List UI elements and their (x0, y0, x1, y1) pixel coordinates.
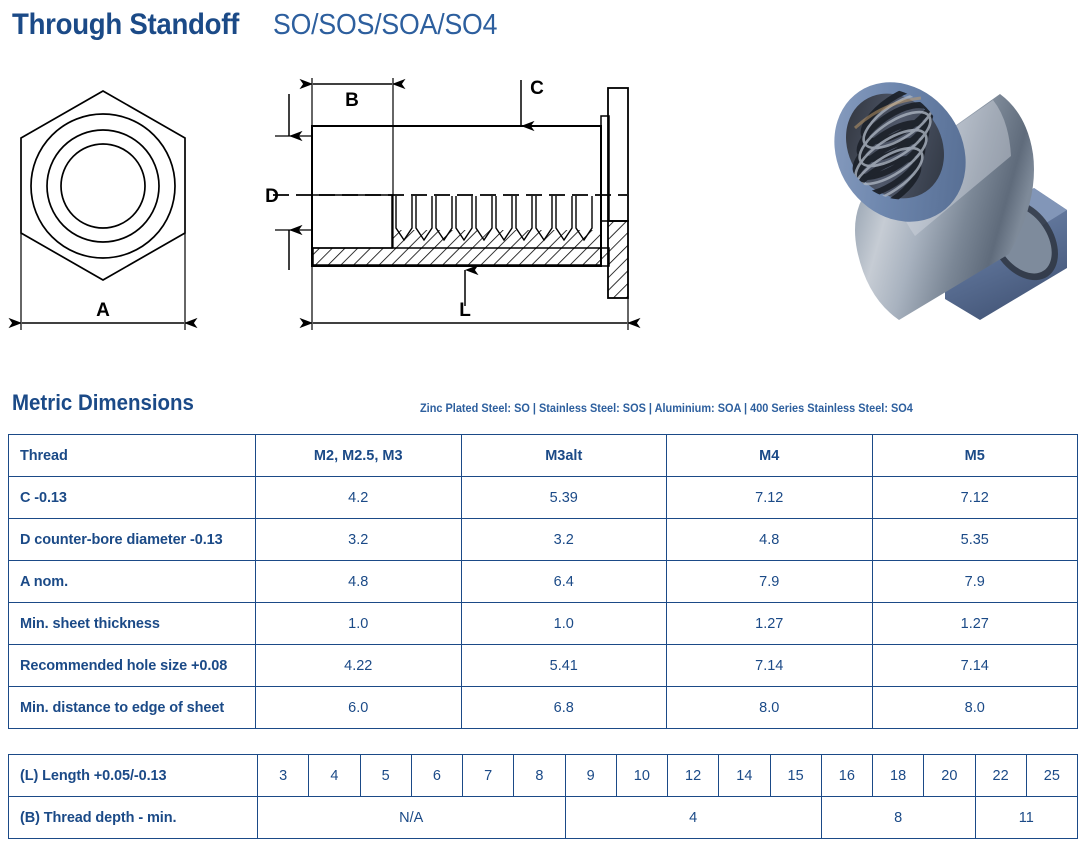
cell-value: 7.14 (667, 645, 873, 687)
table-row: Min. sheet thickness 1.0 1.0 1.27 1.27 (9, 603, 1078, 645)
cell-value: 3.2 (461, 519, 667, 561)
length-cell: 5 (360, 755, 411, 797)
length-cell: 22 (975, 755, 1026, 797)
length-cell: 7 (463, 755, 514, 797)
length-cell: 6 (411, 755, 462, 797)
cell-value: 8.0 (667, 687, 873, 729)
length-row-label: (L) Length +0.05/-0.13 (9, 755, 258, 797)
length-cell: 18 (873, 755, 924, 797)
length-cell: 20 (924, 755, 975, 797)
technical-drawings: A B C D (0, 58, 1086, 368)
row-label: Recommended hole size +0.08 (9, 645, 256, 687)
header-m4: M4 (667, 435, 873, 477)
length-cell: 8 (514, 755, 565, 797)
length-cell: 14 (719, 755, 770, 797)
dim-label-a: A (96, 300, 110, 321)
thread-depth-cell: 8 (821, 797, 975, 839)
length-cell: 3 (258, 755, 309, 797)
length-cell: 15 (770, 755, 821, 797)
cell-value: 1.27 (872, 603, 1078, 645)
cell-value: 6.8 (461, 687, 667, 729)
thread-depth-row-label: (B) Thread depth - min. (9, 797, 258, 839)
cell-value: 4.8 (256, 561, 462, 603)
material-codes-note: Zinc Plated Steel: SO | Stainless Steel:… (420, 403, 913, 415)
standoff-photo (795, 68, 1077, 323)
table-header-row: Thread M2, M2.5, M3 M3alt M4 M5 (9, 435, 1078, 477)
row-label: A nom. (9, 561, 256, 603)
header-m3alt: M3alt (461, 435, 667, 477)
length-thread-depth-table: (L) Length +0.05/-0.13 3 4 5 6 7 8 9 10 … (8, 754, 1078, 839)
row-label: Min. sheet thickness (9, 603, 256, 645)
row-label: D counter-bore diameter -0.13 (9, 519, 256, 561)
header-m2-m25-m3: M2, M2.5, M3 (256, 435, 462, 477)
cell-value: 1.0 (256, 603, 462, 645)
hex-front-view-group: A (21, 91, 185, 330)
length-cell: 12 (668, 755, 719, 797)
table-row: Recommended hole size +0.08 4.22 5.41 7.… (9, 645, 1078, 687)
thread-depth-cell: 11 (975, 797, 1078, 839)
datasheet-page: Through Standoff SO/SOS/SOA/SO4 (0, 0, 1086, 846)
cell-value: 7.9 (872, 561, 1078, 603)
thread-depth-cell: N/A (258, 797, 566, 839)
header-thread: Thread (9, 435, 256, 477)
length-row: (L) Length +0.05/-0.13 3 4 5 6 7 8 9 10 … (9, 755, 1078, 797)
metric-dimensions-table: Thread M2, M2.5, M3 M3alt M4 M5 C -0.13 … (8, 434, 1078, 729)
row-label: Min. distance to edge of sheet (9, 687, 256, 729)
cell-value: 1.27 (667, 603, 873, 645)
cell-value: 5.35 (872, 519, 1078, 561)
dim-label-c: C (530, 78, 544, 99)
cell-value: 7.12 (667, 477, 873, 519)
cell-value: 6.0 (256, 687, 462, 729)
table-row: Min. distance to edge of sheet 6.0 6.8 8… (9, 687, 1078, 729)
table-row: A nom. 4.8 6.4 7.9 7.9 (9, 561, 1078, 603)
length-cell: 16 (821, 755, 872, 797)
cell-value: 5.39 (461, 477, 667, 519)
table-row: C -0.13 4.2 5.39 7.12 7.12 (9, 477, 1078, 519)
length-cell: 25 (1026, 755, 1077, 797)
length-cell: 10 (616, 755, 667, 797)
cell-value: 1.0 (461, 603, 667, 645)
dim-label-d: D (265, 186, 279, 207)
cell-value: 4.8 (667, 519, 873, 561)
thread-depth-cell: 4 (565, 797, 821, 839)
cell-value: 6.4 (461, 561, 667, 603)
cross-section-group: B C D (265, 78, 628, 330)
dim-label-b: B (345, 90, 359, 111)
product-codes: SO/SOS/SOA/SO4 (273, 9, 497, 42)
cell-value: 5.41 (461, 645, 667, 687)
page-title: Through Standoff (12, 8, 239, 42)
cell-value: 4.22 (256, 645, 462, 687)
row-label: C -0.13 (9, 477, 256, 519)
cell-value: 3.2 (256, 519, 462, 561)
cell-value: 7.12 (872, 477, 1078, 519)
thread-depth-row: (B) Thread depth - min. N/A 4 8 11 (9, 797, 1078, 839)
page-header: Through Standoff SO/SOS/SOA/SO4 (12, 8, 517, 42)
cell-value: 4.2 (256, 477, 462, 519)
section-heading: Metric Dimensions (12, 390, 194, 416)
length-cell: 9 (565, 755, 616, 797)
cell-value: 8.0 (872, 687, 1078, 729)
cell-value: 7.9 (667, 561, 873, 603)
cell-value: 7.14 (872, 645, 1078, 687)
header-m5: M5 (872, 435, 1078, 477)
length-cell: 4 (309, 755, 360, 797)
table-row: D counter-bore diameter -0.13 3.2 3.2 4.… (9, 519, 1078, 561)
